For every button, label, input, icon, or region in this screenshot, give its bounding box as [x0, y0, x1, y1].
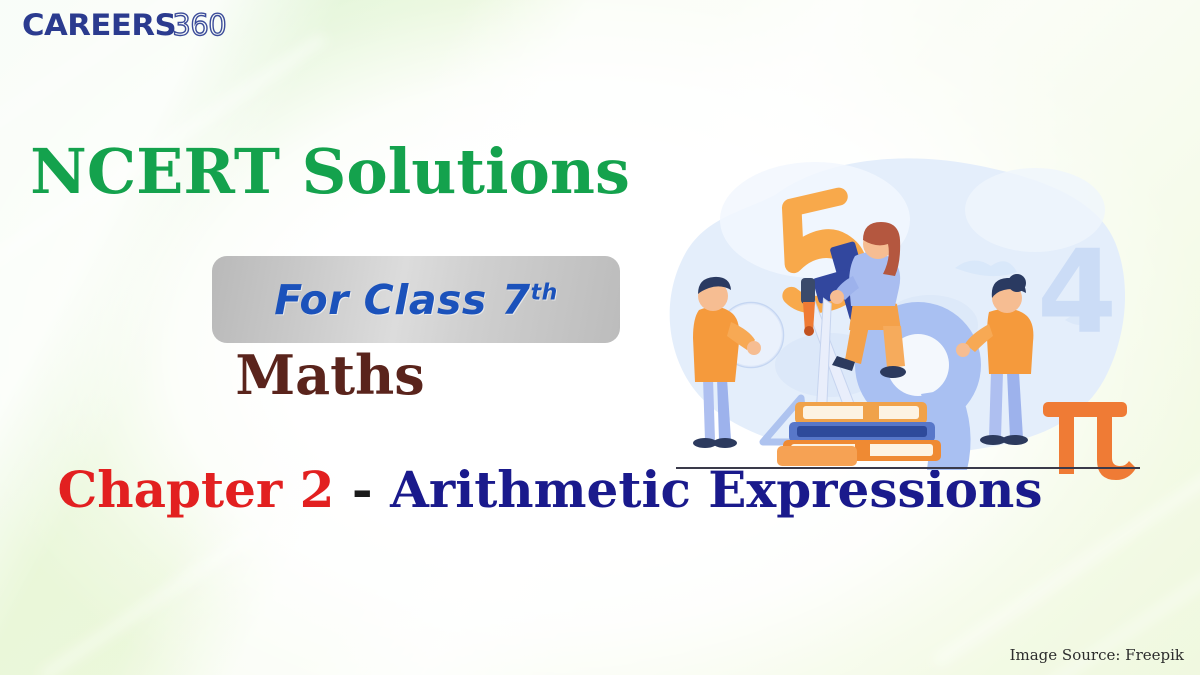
poster-canvas: CAREERS 360 NCERT Solutions For Class 7t…	[0, 0, 1200, 675]
class-badge: For Class 7th	[212, 256, 620, 343]
class-badge-ordinal: th	[531, 280, 558, 305]
logo-360-text: 360	[172, 8, 226, 42]
digit-4-glyph: 4	[1037, 226, 1117, 360]
chapter-separator: -	[352, 460, 373, 519]
subject-title: Maths	[0, 348, 660, 402]
class-badge-label: For Class 7th	[274, 276, 558, 324]
page-title: NCERT Solutions	[0, 141, 660, 203]
class-badge-prefix: For Class	[274, 276, 501, 324]
class-badge-number: 7	[502, 276, 531, 324]
logo-careers-text: CAREERS	[22, 8, 176, 42]
image-credit: Image Source: Freepik	[1010, 646, 1184, 664]
book-stack	[777, 402, 941, 466]
background-streak-5	[40, 528, 260, 675]
illustration-ground-line	[676, 467, 1140, 469]
chapter-number: Chapter 2	[58, 460, 335, 519]
careers360-logo[interactable]: CAREERS 360	[22, 8, 226, 42]
math-illustration: 4	[655, 150, 1150, 480]
